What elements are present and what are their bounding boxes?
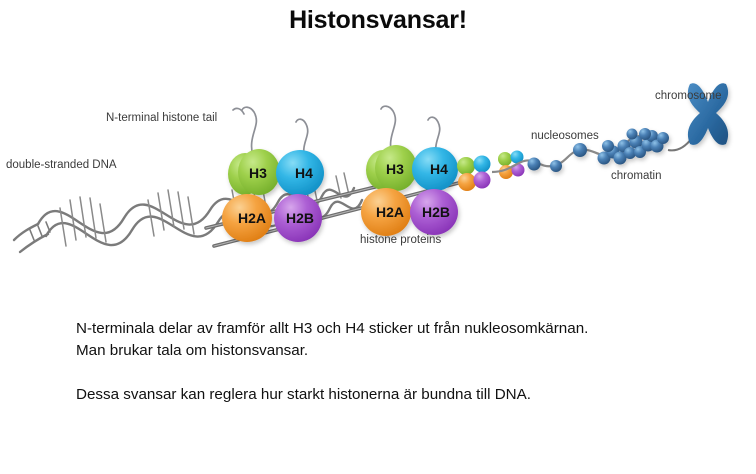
paragraph-spacer	[76, 362, 736, 384]
body-paragraph-2: Dessa svansar kan reglera hur starkt his…	[76, 384, 736, 406]
nucleosome-octamer-left	[222, 149, 324, 242]
body-paragraph-1-line-2: Man brukar tala om histonsvansar.	[76, 340, 736, 362]
histone-label-h2a-2: H2A	[376, 204, 404, 220]
histone-label-h2b-2: H2B	[422, 204, 450, 220]
histone-label-h2a: H2A	[238, 210, 266, 226]
histone-label-h3: H3	[249, 165, 267, 181]
chromatin-fiber	[598, 128, 670, 165]
label-nucleosomes: nucleosomes	[531, 130, 599, 142]
nucleosome-octamer-right	[361, 145, 458, 236]
chromatin-packaging-diagram: H3 H4 H2A H2B H3 H4 H2A H2B	[0, 60, 756, 290]
nucleosome-beads	[528, 143, 588, 172]
nucleosome-octamer-small-2	[498, 151, 525, 180]
nucleosome-octamer-small-1	[457, 156, 491, 192]
label-n-terminal-histone-tail: N-terminal histone tail	[106, 112, 217, 124]
label-double-stranded-dna: double-stranded DNA	[6, 159, 117, 171]
chromatin-to-chromosome-link	[668, 138, 692, 150]
slide-body-text: N-terminala delar av framför allt H3 och…	[76, 318, 736, 406]
histone-label-h4-2: H4	[430, 161, 448, 177]
histone-label-h2b: H2B	[286, 210, 314, 226]
histone-label-h3-2: H3	[386, 161, 404, 177]
histone-label-h4: H4	[295, 165, 313, 181]
page-title: Histonsvansar!	[0, 6, 756, 35]
body-paragraph-1-line-1: N-terminala delar av framför allt H3 och…	[76, 318, 736, 340]
label-chromosome: chromosome	[655, 90, 721, 102]
label-chromatin: chromatin	[611, 170, 662, 182]
label-histone-proteins: histone proteins	[360, 234, 441, 246]
